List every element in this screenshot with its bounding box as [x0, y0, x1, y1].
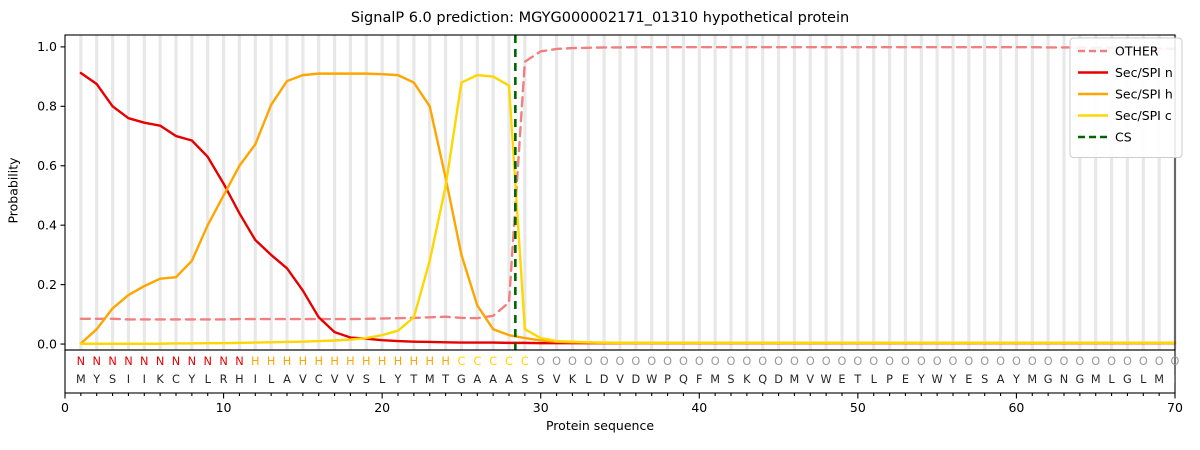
- sequence-residue: R: [220, 373, 228, 386]
- sequence-residue: P: [664, 373, 671, 386]
- y-tick-label: 0.6: [37, 158, 57, 173]
- sequence-annotation: O: [1044, 355, 1053, 368]
- sequence-residue: Y: [949, 373, 957, 386]
- sequence-annotation: O: [838, 355, 847, 368]
- sequence-residue: A: [489, 373, 497, 386]
- sequence-residue: M: [1027, 373, 1037, 386]
- sequence-residue: L: [205, 373, 212, 386]
- y-tick-label: 0.0: [37, 336, 57, 351]
- sequence-residue: W: [821, 373, 832, 386]
- sequence-annotation: O: [616, 355, 625, 368]
- sequence-residue: G: [1044, 373, 1053, 386]
- sequence-annotation: O: [806, 355, 815, 368]
- sequence-annotation: N: [92, 355, 100, 368]
- sequence-residue: I: [143, 373, 146, 386]
- sequence-residue: S: [981, 373, 988, 386]
- sequence-annotation: O: [1123, 355, 1132, 368]
- sequence-annotation: C: [473, 355, 481, 368]
- sequence-residue: G: [1075, 373, 1084, 386]
- sequence-residue: A: [505, 373, 513, 386]
- sequence-annotation: O: [885, 355, 894, 368]
- x-tick-label: 70: [1167, 400, 1183, 415]
- sequence-annotation: N: [124, 355, 132, 368]
- x-tick-label: 20: [374, 400, 390, 415]
- sequence-annotation: C: [505, 355, 513, 368]
- sequence-annotation: O: [1075, 355, 1084, 368]
- sequence-annotation: O: [853, 355, 862, 368]
- sequence-annotation: H: [410, 355, 419, 368]
- sequence-annotation: O: [568, 355, 577, 368]
- sequence-annotation: O: [1107, 355, 1116, 368]
- sequence-annotation: H: [362, 355, 371, 368]
- sequence-residue: K: [743, 373, 751, 386]
- sequence-residue: D: [600, 373, 609, 386]
- sequence-residue: T: [441, 373, 449, 386]
- sequence-annotation: O: [980, 355, 989, 368]
- sequence-residue: F: [696, 373, 703, 386]
- sequence-residue: Q: [758, 373, 767, 386]
- y-axis-ticks: 0.00.20.40.60.81.0: [37, 39, 65, 351]
- sequence-annotation: N: [172, 355, 180, 368]
- x-tick-label: 60: [1008, 400, 1024, 415]
- sequence-residue: M: [710, 373, 720, 386]
- x-tick-label: 10: [216, 400, 232, 415]
- sequence-residue: P: [886, 373, 893, 386]
- sequence-residue: E: [902, 373, 909, 386]
- sequence-annotation: O: [1028, 355, 1037, 368]
- sequence-annotation: H: [314, 355, 323, 368]
- sequence-residue: G: [1123, 373, 1132, 386]
- sequence-annotation: O: [901, 355, 910, 368]
- sequence-residue: E: [838, 373, 845, 386]
- sequence-track: NMNYNSNININKNCNYNLNRNHHIHLHAHVHCHVHVHSHL…: [76, 355, 1180, 386]
- legend[interactable]: OTHERSec/SPI nSec/SPI hSec/SPI cCS: [1070, 38, 1182, 158]
- y-tick-label: 0.2: [37, 277, 57, 292]
- plot-canvas: 0.00.20.40.60.81.0 010203040506070 NMNYN…: [0, 0, 1200, 450]
- sequence-residue: V: [331, 373, 339, 386]
- sequence-residue: L: [268, 373, 275, 386]
- sequence-annotation: H: [394, 355, 403, 368]
- sequence-annotation: N: [188, 355, 196, 368]
- sequence-annotation: O: [774, 355, 783, 368]
- sequence-residue: K: [156, 373, 164, 386]
- sequence-annotation: H: [251, 355, 260, 368]
- x-tick-label: 30: [533, 400, 549, 415]
- sequence-annotation: C: [457, 355, 465, 368]
- sequence-annotation: O: [631, 355, 640, 368]
- sequence-residue: G: [457, 373, 466, 386]
- sequence-annotation: C: [489, 355, 497, 368]
- sequence-residue: L: [871, 373, 878, 386]
- sequence-annotation: C: [521, 355, 529, 368]
- sequence-residue: M: [76, 373, 86, 386]
- sequence-annotation: N: [219, 355, 227, 368]
- sequence-annotation: O: [695, 355, 704, 368]
- legend-label-sec-spi-n[interactable]: Sec/SPI n: [1115, 65, 1173, 80]
- sequence-annotation: O: [600, 355, 609, 368]
- sequence-annotation: O: [949, 355, 958, 368]
- sequence-residue: D: [632, 373, 641, 386]
- sequence-annotation: O: [1012, 355, 1021, 368]
- grid-layer: [65, 35, 1175, 350]
- sequence-annotation: O: [1171, 355, 1180, 368]
- legend-label-sec-spi-c[interactable]: Sec/SPI c: [1115, 108, 1172, 123]
- sequence-annotation: O: [647, 355, 656, 368]
- sequence-residue: T: [409, 373, 417, 386]
- signalp-figure: SignalP 6.0 prediction: MGYG000002171_01…: [0, 0, 1200, 450]
- sequence-residue: L: [379, 373, 386, 386]
- sequence-residue: A: [283, 373, 291, 386]
- sequence-residue: E: [965, 373, 972, 386]
- sequence-annotation: O: [536, 355, 545, 368]
- x-tick-label: 40: [691, 400, 707, 415]
- sequence-annotation: O: [964, 355, 973, 368]
- sequence-annotation: O: [1060, 355, 1069, 368]
- sequence-annotation: O: [933, 355, 942, 368]
- sequence-annotation: O: [917, 355, 926, 368]
- sequence-annotation: O: [584, 355, 593, 368]
- sequence-residue: A: [473, 373, 481, 386]
- x-tick-label: 0: [61, 400, 69, 415]
- sequence-annotation: H: [378, 355, 387, 368]
- sequence-annotation: H: [330, 355, 339, 368]
- sequence-residue: K: [569, 373, 577, 386]
- y-tick-label: 0.4: [37, 217, 57, 232]
- sequence-residue: M: [790, 373, 800, 386]
- sequence-residue: S: [727, 373, 734, 386]
- sequence-residue: M: [425, 373, 435, 386]
- sequence-residue: Y: [1012, 373, 1020, 386]
- sequence-annotation: H: [267, 355, 276, 368]
- sequence-residue: V: [616, 373, 624, 386]
- sequence-residue: V: [299, 373, 307, 386]
- sequence-annotation: O: [727, 355, 736, 368]
- sequence-annotation: O: [1155, 355, 1164, 368]
- y-tick-label: 0.8: [37, 99, 57, 114]
- sequence-residue: L: [585, 373, 592, 386]
- sequence-residue: V: [347, 373, 355, 386]
- sequence-annotation: H: [299, 355, 308, 368]
- x-axis-ticks: 010203040506070: [61, 393, 1183, 415]
- sequence-annotation: O: [663, 355, 672, 368]
- sequence-residue: C: [172, 373, 180, 386]
- sequence-residue: T: [853, 373, 861, 386]
- legend-label-sec-spi-h[interactable]: Sec/SPI h: [1115, 86, 1173, 101]
- sequence-residue: M: [1154, 373, 1164, 386]
- sequence-residue: S: [363, 373, 370, 386]
- sequence-annotation: H: [283, 355, 292, 368]
- sequence-annotation: O: [790, 355, 799, 368]
- sequence-annotation: H: [346, 355, 355, 368]
- sequence-residue: Y: [394, 373, 402, 386]
- sequence-residue: S: [521, 373, 528, 386]
- sequence-annotation: O: [711, 355, 720, 368]
- sequence-residue: I: [254, 373, 257, 386]
- sequence-residue: L: [1108, 373, 1115, 386]
- sequence-residue: A: [997, 373, 1005, 386]
- sequence-residue: W: [932, 373, 943, 386]
- sequence-residue: S: [537, 373, 544, 386]
- sequence-annotation: O: [822, 355, 831, 368]
- sequence-residue: M: [1091, 373, 1101, 386]
- sequence-annotation: N: [140, 355, 148, 368]
- sequence-annotation: O: [1139, 355, 1148, 368]
- sequence-residue: N: [1060, 373, 1068, 386]
- sequence-residue: Y: [187, 373, 195, 386]
- legend-label-other[interactable]: OTHER: [1115, 43, 1159, 58]
- legend-label-cs[interactable]: CS: [1115, 129, 1132, 144]
- sequence-residue: W: [646, 373, 657, 386]
- sequence-residue: Y: [92, 373, 100, 386]
- sequence-annotation: O: [742, 355, 751, 368]
- sequence-residue: H: [235, 373, 244, 386]
- sequence-residue: I: [127, 373, 130, 386]
- sequence-annotation: H: [441, 355, 450, 368]
- sequence-annotation: O: [996, 355, 1005, 368]
- sequence-annotation: O: [679, 355, 688, 368]
- sequence-annotation: O: [758, 355, 767, 368]
- sequence-residue: Y: [917, 373, 925, 386]
- sequence-residue: Q: [679, 373, 688, 386]
- y-tick-label: 1.0: [37, 39, 57, 54]
- sequence-annotation: N: [203, 355, 211, 368]
- sequence-residue: C: [315, 373, 323, 386]
- sequence-annotation: H: [425, 355, 434, 368]
- sequence-residue: L: [1140, 373, 1147, 386]
- sequence-annotation: O: [1091, 355, 1100, 368]
- sequence-annotation: N: [108, 355, 116, 368]
- sequence-residue: V: [553, 373, 561, 386]
- sequence-residue: D: [774, 373, 783, 386]
- sequence-annotation: N: [156, 355, 164, 368]
- sequence-annotation: N: [235, 355, 243, 368]
- sequence-residue: V: [806, 373, 814, 386]
- x-tick-label: 50: [850, 400, 866, 415]
- sequence-annotation: O: [869, 355, 878, 368]
- sequence-annotation: O: [552, 355, 561, 368]
- sequence-residue: S: [109, 373, 116, 386]
- sequence-residue: I: [1173, 373, 1176, 386]
- sequence-annotation: N: [77, 355, 85, 368]
